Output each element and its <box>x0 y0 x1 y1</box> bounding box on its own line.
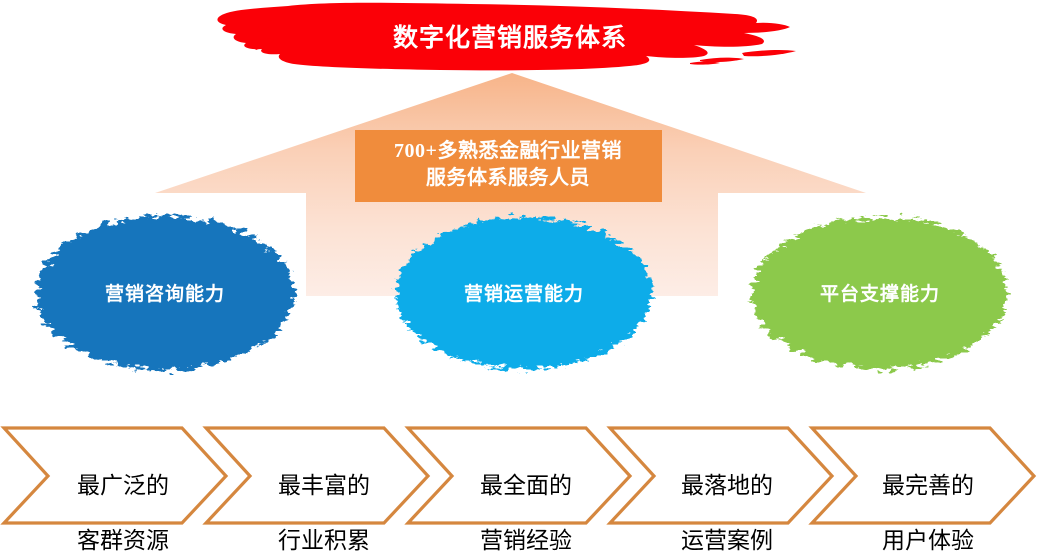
chevron-2-label: 最丰富的 行业积累 <box>249 444 399 554</box>
chevron-2-line1: 最丰富的 <box>278 473 370 498</box>
chevron-1-label: 最广泛的 客群资源 <box>48 444 198 554</box>
chevron-1-line2: 客群资源 <box>77 528 169 553</box>
chevron-1-line1: 最广泛的 <box>77 473 169 498</box>
chevron-4-label: 最落地的 运营案例 <box>652 444 802 554</box>
chevron-2-line2: 行业积累 <box>278 528 370 553</box>
slide-canvas: 数字化营销服务体系 700+多熟悉金融行业营销 服务体系服务人员 营销咨询能力 <box>0 0 1047 534</box>
chevron-5-line2: 用户体验 <box>882 528 974 553</box>
chevron-3-label: 最全面的 营销经验 <box>451 444 601 554</box>
chevron-5-label: 最完善的 用户体验 <box>853 444 1003 554</box>
chevron-4-line1: 最落地的 <box>681 473 773 498</box>
chevron-3-line2: 营销经验 <box>480 528 572 553</box>
chevron-4-line2: 运营案例 <box>681 528 773 553</box>
chevron-3-line1: 最全面的 <box>480 473 572 498</box>
chevron-5-line1: 最完善的 <box>882 473 974 498</box>
